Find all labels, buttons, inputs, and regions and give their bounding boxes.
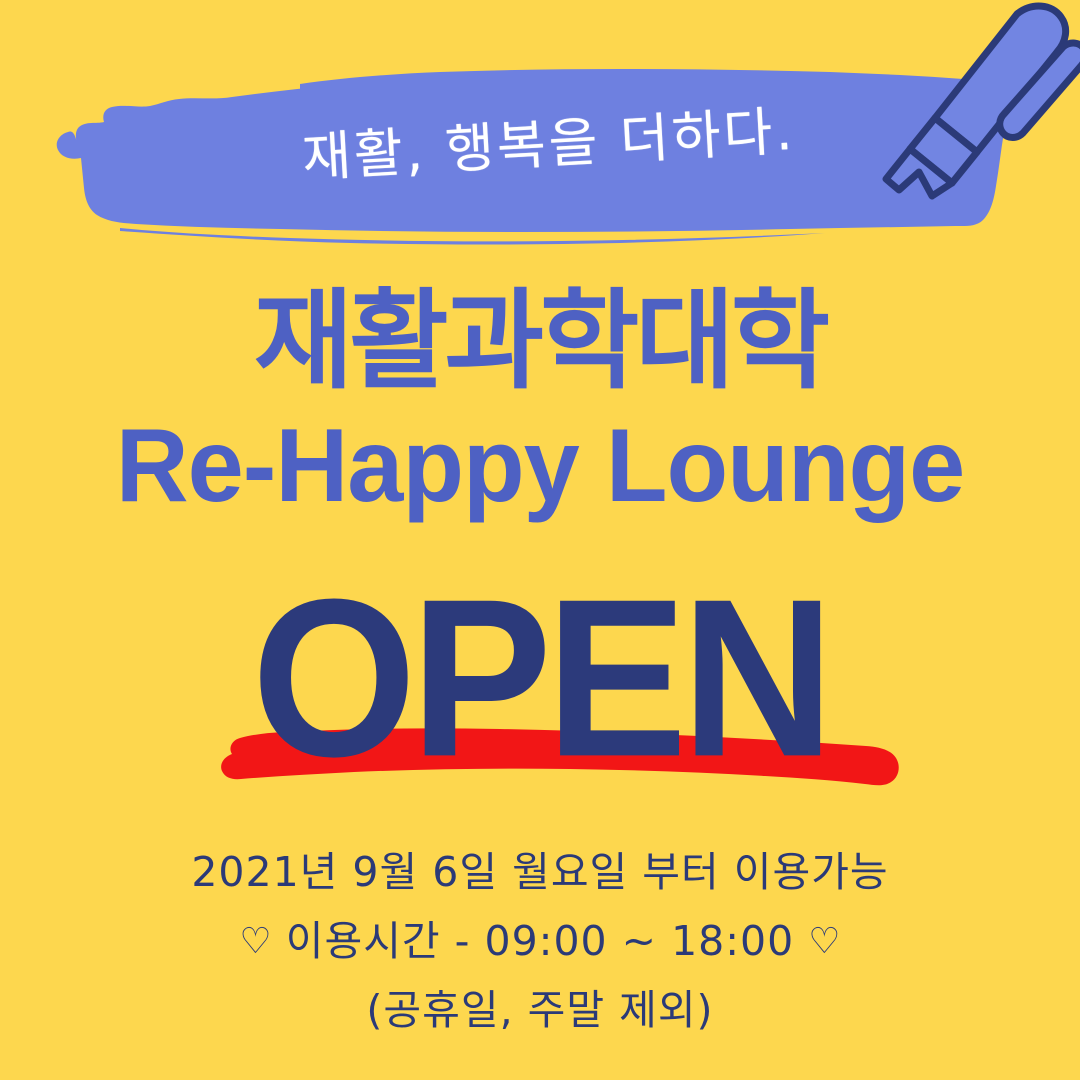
title-korean: 재활과학대학: [0, 288, 1080, 396]
heart-right-icon: ♡: [808, 921, 840, 962]
info-line-exclusions: (공휴일, 주말 제외): [0, 976, 1080, 1045]
open-block: OPEN: [0, 572, 1080, 812]
heart-left-icon: ♡: [239, 921, 271, 962]
info-hours-text: 이용시간 - 09:00 ~ 18:00: [286, 917, 794, 965]
info-block: 2021년 9월 6일 월요일 부터 이용가능 ♡ 이용시간 - 09:00 ~…: [0, 838, 1080, 1045]
open-label: OPEN: [0, 572, 1080, 784]
banner-area: 재활, 행복을 더하다.: [0, 0, 1080, 265]
poster-canvas: 재활, 행복을 더하다. 재활과학대학 Re-Happy Lounge OPEN…: [0, 0, 1080, 1080]
info-line-start-date: 2021년 9월 6일 월요일 부터 이용가능: [0, 838, 1080, 907]
info-line-hours: ♡ 이용시간 - 09:00 ~ 18:00 ♡: [0, 907, 1080, 976]
banner-tagline-text: 재활, 행복을 더하다.: [300, 88, 797, 191]
title-english: Re-Happy Lounge: [16, 414, 1064, 518]
